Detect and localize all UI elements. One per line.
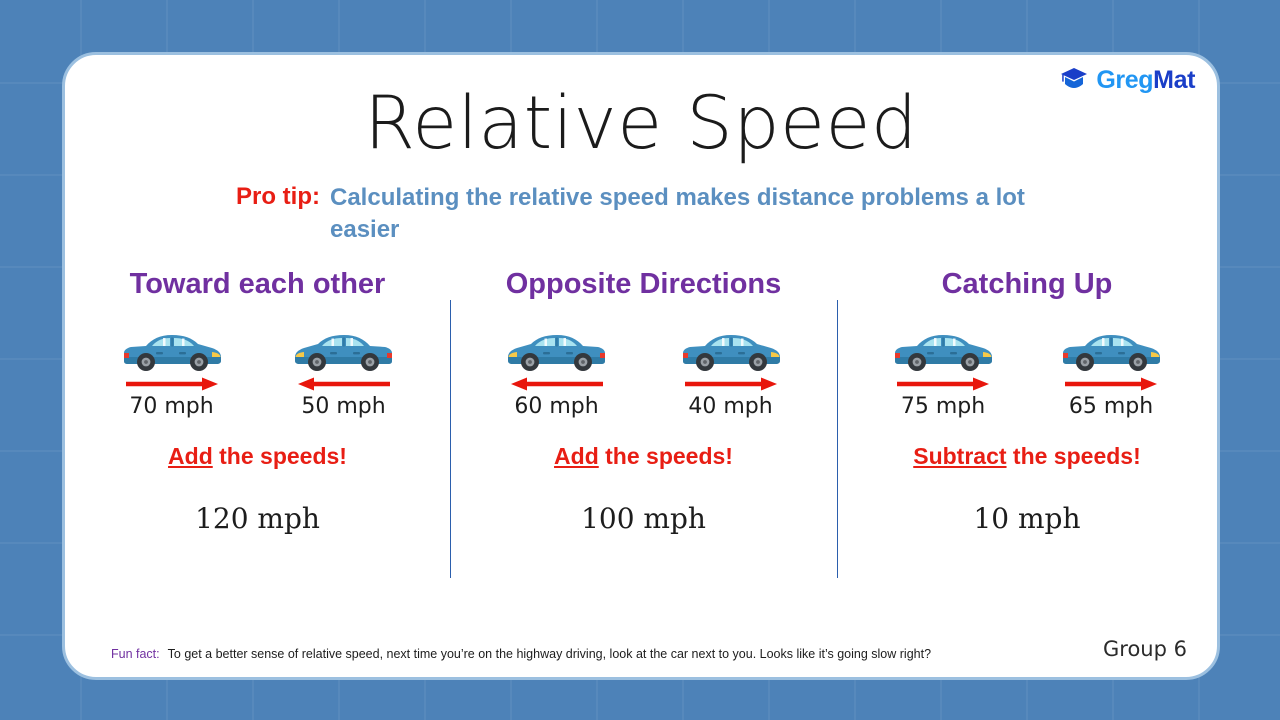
direction-arrow-left-icon — [493, 375, 621, 393]
fun-fact-label: Fun fact: — [111, 647, 160, 661]
car-icon — [1055, 327, 1167, 373]
operation-text: Subtract the speeds! — [913, 443, 1141, 470]
column-opposite-directions: Opposite Directions — [450, 268, 837, 578]
direction-arrow-right-icon — [108, 375, 236, 393]
column-toward-each-other: Toward each other — [65, 268, 450, 578]
brand-name-greg: Greg — [1096, 66, 1153, 94]
speed-label: 75 mph — [901, 394, 985, 419]
comparison-columns: Toward each other — [65, 268, 1217, 578]
operation-verb: Add — [554, 443, 599, 469]
column-catching-up: Catching Up — [837, 268, 1217, 578]
car-icon — [288, 327, 400, 373]
car-unit: 40 mph — [656, 327, 806, 419]
car-icon — [887, 327, 999, 373]
column-heading: Toward each other — [130, 268, 386, 301]
car-unit: 65 mph — [1036, 327, 1186, 419]
car-icon — [116, 327, 228, 373]
car-unit: 70 mph — [97, 327, 247, 419]
column-heading: Catching Up — [942, 268, 1113, 301]
fun-fact-note: Fun fact:To get a better sense of relati… — [111, 647, 931, 661]
graduation-cap-icon — [1059, 65, 1089, 96]
direction-arrow-left-icon — [280, 375, 408, 393]
speed-label: 50 mph — [301, 394, 385, 419]
operation-text: Add the speeds! — [168, 443, 347, 470]
result-value: 120 mph — [195, 502, 320, 535]
fun-fact-body: To get a better sense of relative speed,… — [160, 647, 931, 661]
pro-tip: Pro tip: Calculating the relative speed … — [65, 182, 1217, 246]
result-value: 10 mph — [973, 502, 1080, 535]
speed-label: 40 mph — [688, 394, 772, 419]
operation-rest: the speeds! — [213, 443, 347, 469]
operation-rest: the speeds! — [599, 443, 733, 469]
brand-logo: GregMat — [1059, 65, 1195, 96]
direction-arrow-right-icon — [1047, 375, 1175, 393]
pro-tip-label: Pro tip: — [236, 182, 330, 246]
car-icon — [501, 327, 613, 373]
car-row: 75 mph — [837, 327, 1217, 419]
speed-label: 65 mph — [1069, 394, 1153, 419]
page-title: Relative Speed — [65, 81, 1217, 166]
car-row: 60 mph — [450, 327, 837, 419]
result-value: 100 mph — [581, 502, 706, 535]
car-unit: 50 mph — [269, 327, 419, 419]
car-unit: 60 mph — [482, 327, 632, 419]
direction-arrow-right-icon — [879, 375, 1007, 393]
speed-label: 70 mph — [129, 394, 213, 419]
car-row: 70 mph — [65, 327, 450, 419]
direction-arrow-right-icon — [667, 375, 795, 393]
car-icon — [675, 327, 787, 373]
operation-text: Add the speeds! — [554, 443, 733, 470]
pro-tip-body: Calculating the relative speed makes dis… — [330, 182, 1060, 246]
speed-label: 60 mph — [514, 394, 598, 419]
operation-verb: Subtract — [913, 443, 1006, 469]
slide-card: GregMat Relative Speed Pro tip: Calculat… — [62, 52, 1220, 680]
brand-name: GregMat — [1096, 68, 1195, 93]
car-unit: 75 mph — [868, 327, 1018, 419]
operation-rest: the speeds! — [1007, 443, 1141, 469]
operation-verb: Add — [168, 443, 213, 469]
brand-name-mat: Mat — [1153, 66, 1195, 94]
group-label: Group 6 — [1103, 637, 1187, 661]
column-heading: Opposite Directions — [506, 268, 782, 301]
